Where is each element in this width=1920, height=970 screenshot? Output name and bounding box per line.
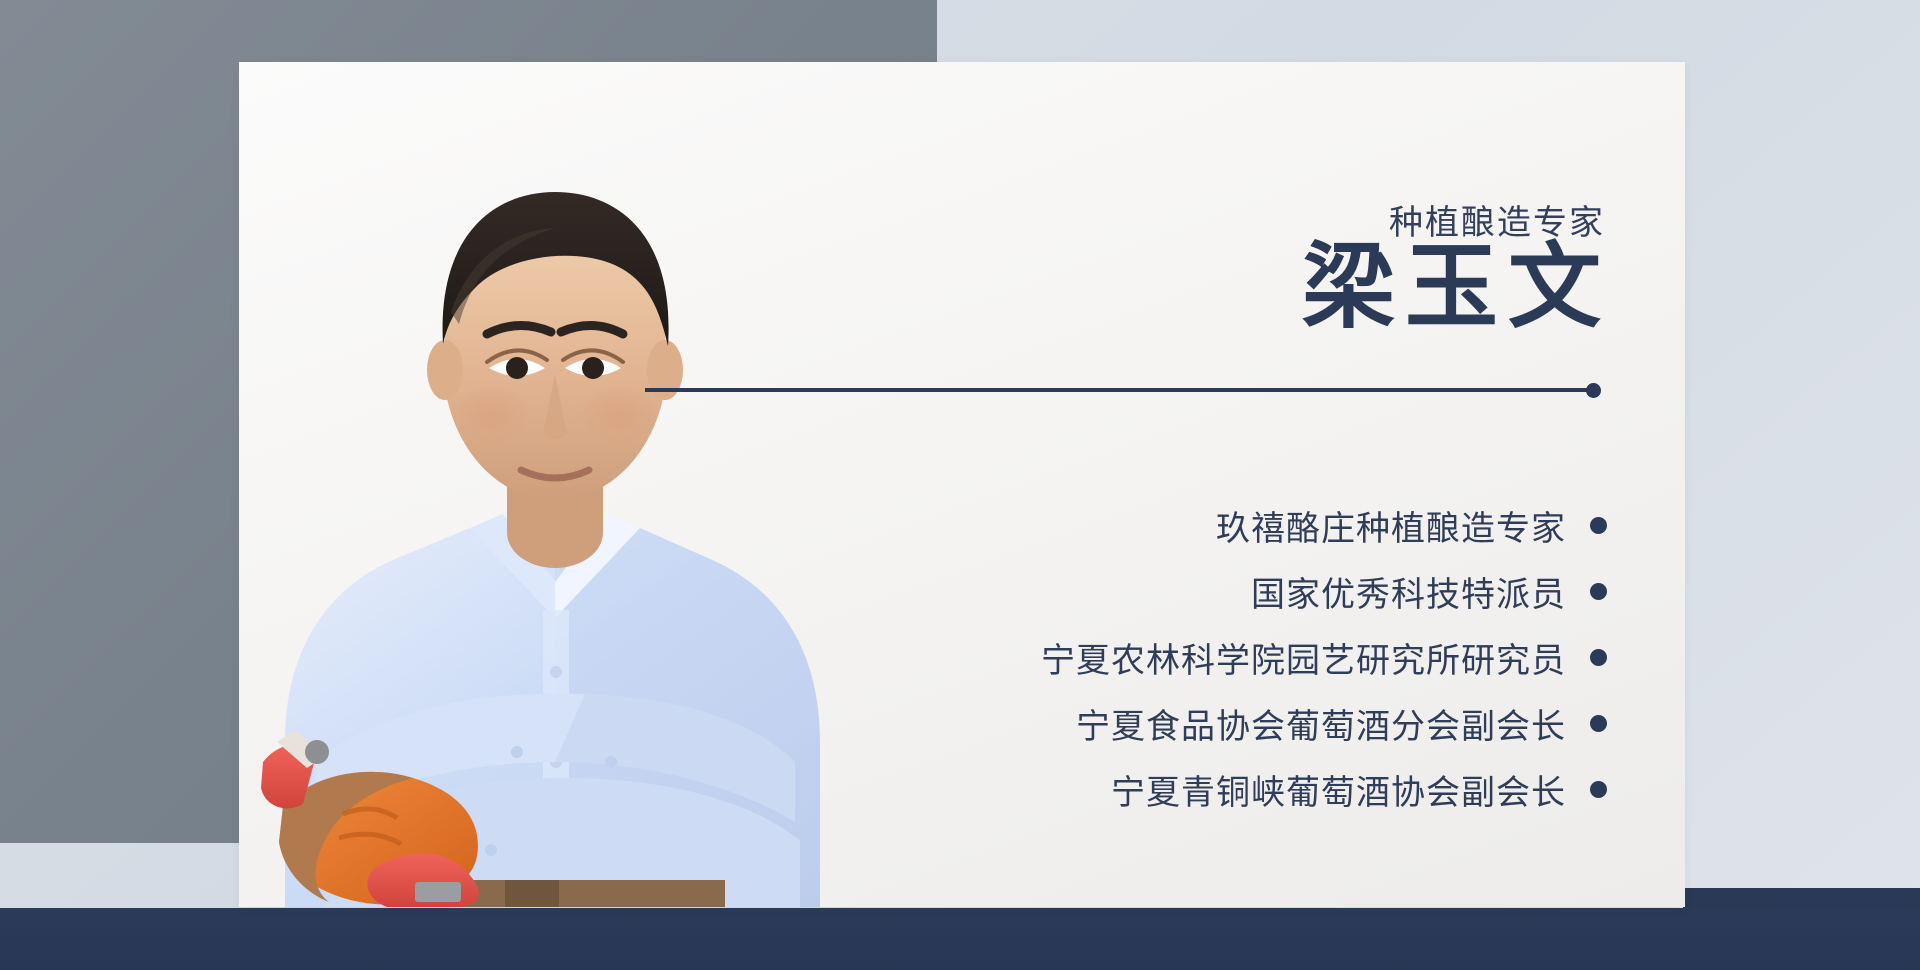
credential-text: 宁夏农林科学院园艺研究所研究员 <box>1041 633 1566 682</box>
bullet-dot-icon <box>1590 781 1607 798</box>
credentials-list: 玖禧酪庄种植酿造专家 国家优秀科技特派员 宁夏农林科学院园艺研究所研究员 宁夏食… <box>787 492 1607 822</box>
bullet-dot-icon <box>1590 649 1607 666</box>
expert-name: 梁玉文 <box>1302 240 1611 338</box>
poster-canvas: 种植酿造专家 梁玉文 玖禧酪庄种植酿造专家 国家优秀科技特派员 宁夏农林科学院园… <box>0 0 1920 970</box>
divider <box>645 383 1615 397</box>
credential-text: 国家优秀科技特派员 <box>1251 567 1566 616</box>
divider-line <box>645 388 1597 392</box>
profile-info: 种植酿造专家 梁玉文 玖禧酪庄种植酿造专家 国家优秀科技特派员 宁夏农林科学院园… <box>760 62 1685 907</box>
credential-text: 玖禧酪庄种植酿造专家 <box>1216 501 1566 550</box>
divider-end-dot <box>1586 383 1601 398</box>
list-item: 宁夏青铜峡葡萄酒协会副会长 <box>1111 756 1607 822</box>
list-item: 国家优秀科技特派员 <box>1251 558 1607 624</box>
list-item: 玖禧酪庄种植酿造专家 <box>1216 492 1607 558</box>
list-item: 宁夏农林科学院园艺研究所研究员 <box>1041 624 1607 690</box>
list-item: 宁夏食品协会葡萄酒分会副会长 <box>1076 690 1607 756</box>
bullet-dot-icon <box>1590 715 1607 732</box>
bullet-dot-icon <box>1590 517 1607 534</box>
background-navy-bottom-band <box>0 908 1920 970</box>
credential-text: 宁夏食品协会葡萄酒分会副会长 <box>1076 699 1566 748</box>
bullet-dot-icon <box>1590 583 1607 600</box>
credential-text: 宁夏青铜峡葡萄酒协会副会长 <box>1111 765 1566 814</box>
